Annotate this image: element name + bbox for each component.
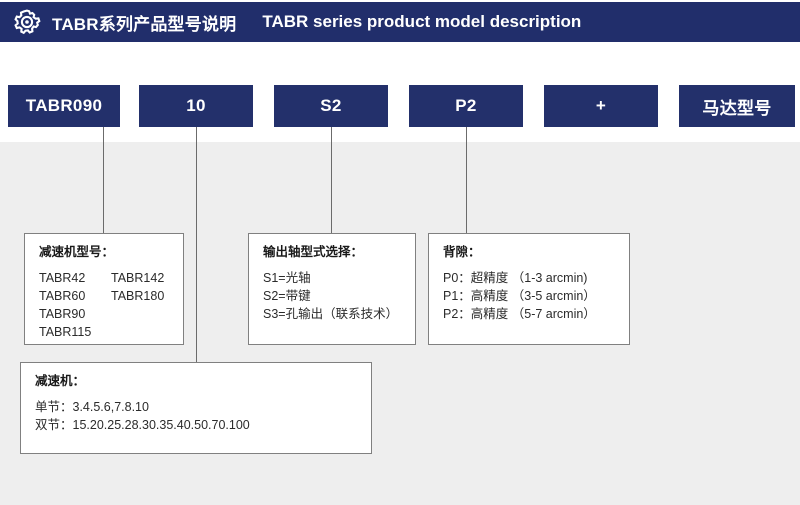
gearbox-model-item: TABR142 xyxy=(111,269,183,287)
reduction-ratio-single-stage: 单节：3.4.5.6,7.8.10 xyxy=(35,398,371,416)
model-code-segment-plus[interactable]: + xyxy=(544,85,658,127)
backlash-option: P2：高精度 （5-7 arcmin） xyxy=(443,305,629,323)
gearbox-model-item xyxy=(111,323,183,341)
detail-box-backlash: 背隙： P0：超精度 （1-3 arcmin) P1：高精度 （3-5 arcm… xyxy=(428,233,630,345)
reduction-ratio-double-stage: 双节：15.20.25.28.30.35.40.50.70.100 xyxy=(35,416,371,434)
gearbox-model-item: TABR42 xyxy=(39,269,111,287)
output-shaft-option: S1=光轴 xyxy=(263,269,415,287)
detail-title-gearbox-models: 减速机型号： xyxy=(39,246,183,260)
model-code-row: TABR090 10 S2 P2 + 马达型号 xyxy=(0,85,800,127)
gear-icon xyxy=(12,7,42,37)
model-code-segment-motor[interactable]: 马达型号 xyxy=(679,85,795,127)
backlash-option: P0：超精度 （1-3 arcmin) xyxy=(443,269,629,287)
detail-box-gearbox-models: 减速机型号： TABR42 TABR142 TABR60 TABR180 TAB… xyxy=(24,233,184,345)
gearbox-model-item: TABR90 xyxy=(39,305,111,323)
model-code-segment-backlash[interactable]: P2 xyxy=(409,85,523,127)
model-code-segment-gearbox[interactable]: TABR090 xyxy=(8,85,120,127)
detail-title-reduction-ratio: 减速机： xyxy=(35,375,371,389)
detail-title-output-shaft: 输出轴型式选择： xyxy=(263,246,415,260)
header-title-chinese: TABR系列产品型号说明 xyxy=(52,10,236,35)
gearbox-model-item xyxy=(111,305,183,323)
detail-title-backlash: 背隙： xyxy=(443,246,629,260)
model-code-segment-shaft[interactable]: S2 xyxy=(274,85,388,127)
detail-box-reduction-ratio: 减速机： 单节：3.4.5.6,7.8.10 双节：15.20.25.28.30… xyxy=(20,362,372,454)
backlash-option: P1：高精度 （3-5 arcmin） xyxy=(443,287,629,305)
connector-line-backlash xyxy=(466,127,467,233)
connector-line-ratio xyxy=(196,127,197,362)
gearbox-model-item: TABR60 xyxy=(39,287,111,305)
gearbox-model-grid: TABR42 TABR142 TABR60 TABR180 TABR90 TAB… xyxy=(39,269,183,341)
output-shaft-option: S2=带键 xyxy=(263,287,415,305)
connector-line-gearbox xyxy=(103,127,104,233)
detail-box-output-shaft: 输出轴型式选择： S1=光轴 S2=带键 S3=孔输出（联系技术） xyxy=(248,233,416,345)
model-code-segment-ratio[interactable]: 10 xyxy=(139,85,253,127)
connector-line-shaft xyxy=(331,127,332,233)
header-title-english: TABR series product model description xyxy=(262,12,581,32)
header-bar: TABR系列产品型号说明 TABR series product model d… xyxy=(0,2,800,42)
gearbox-model-item: TABR180 xyxy=(111,287,183,305)
gearbox-model-item: TABR115 xyxy=(39,323,111,341)
output-shaft-option: S3=孔输出（联系技术） xyxy=(263,305,415,323)
